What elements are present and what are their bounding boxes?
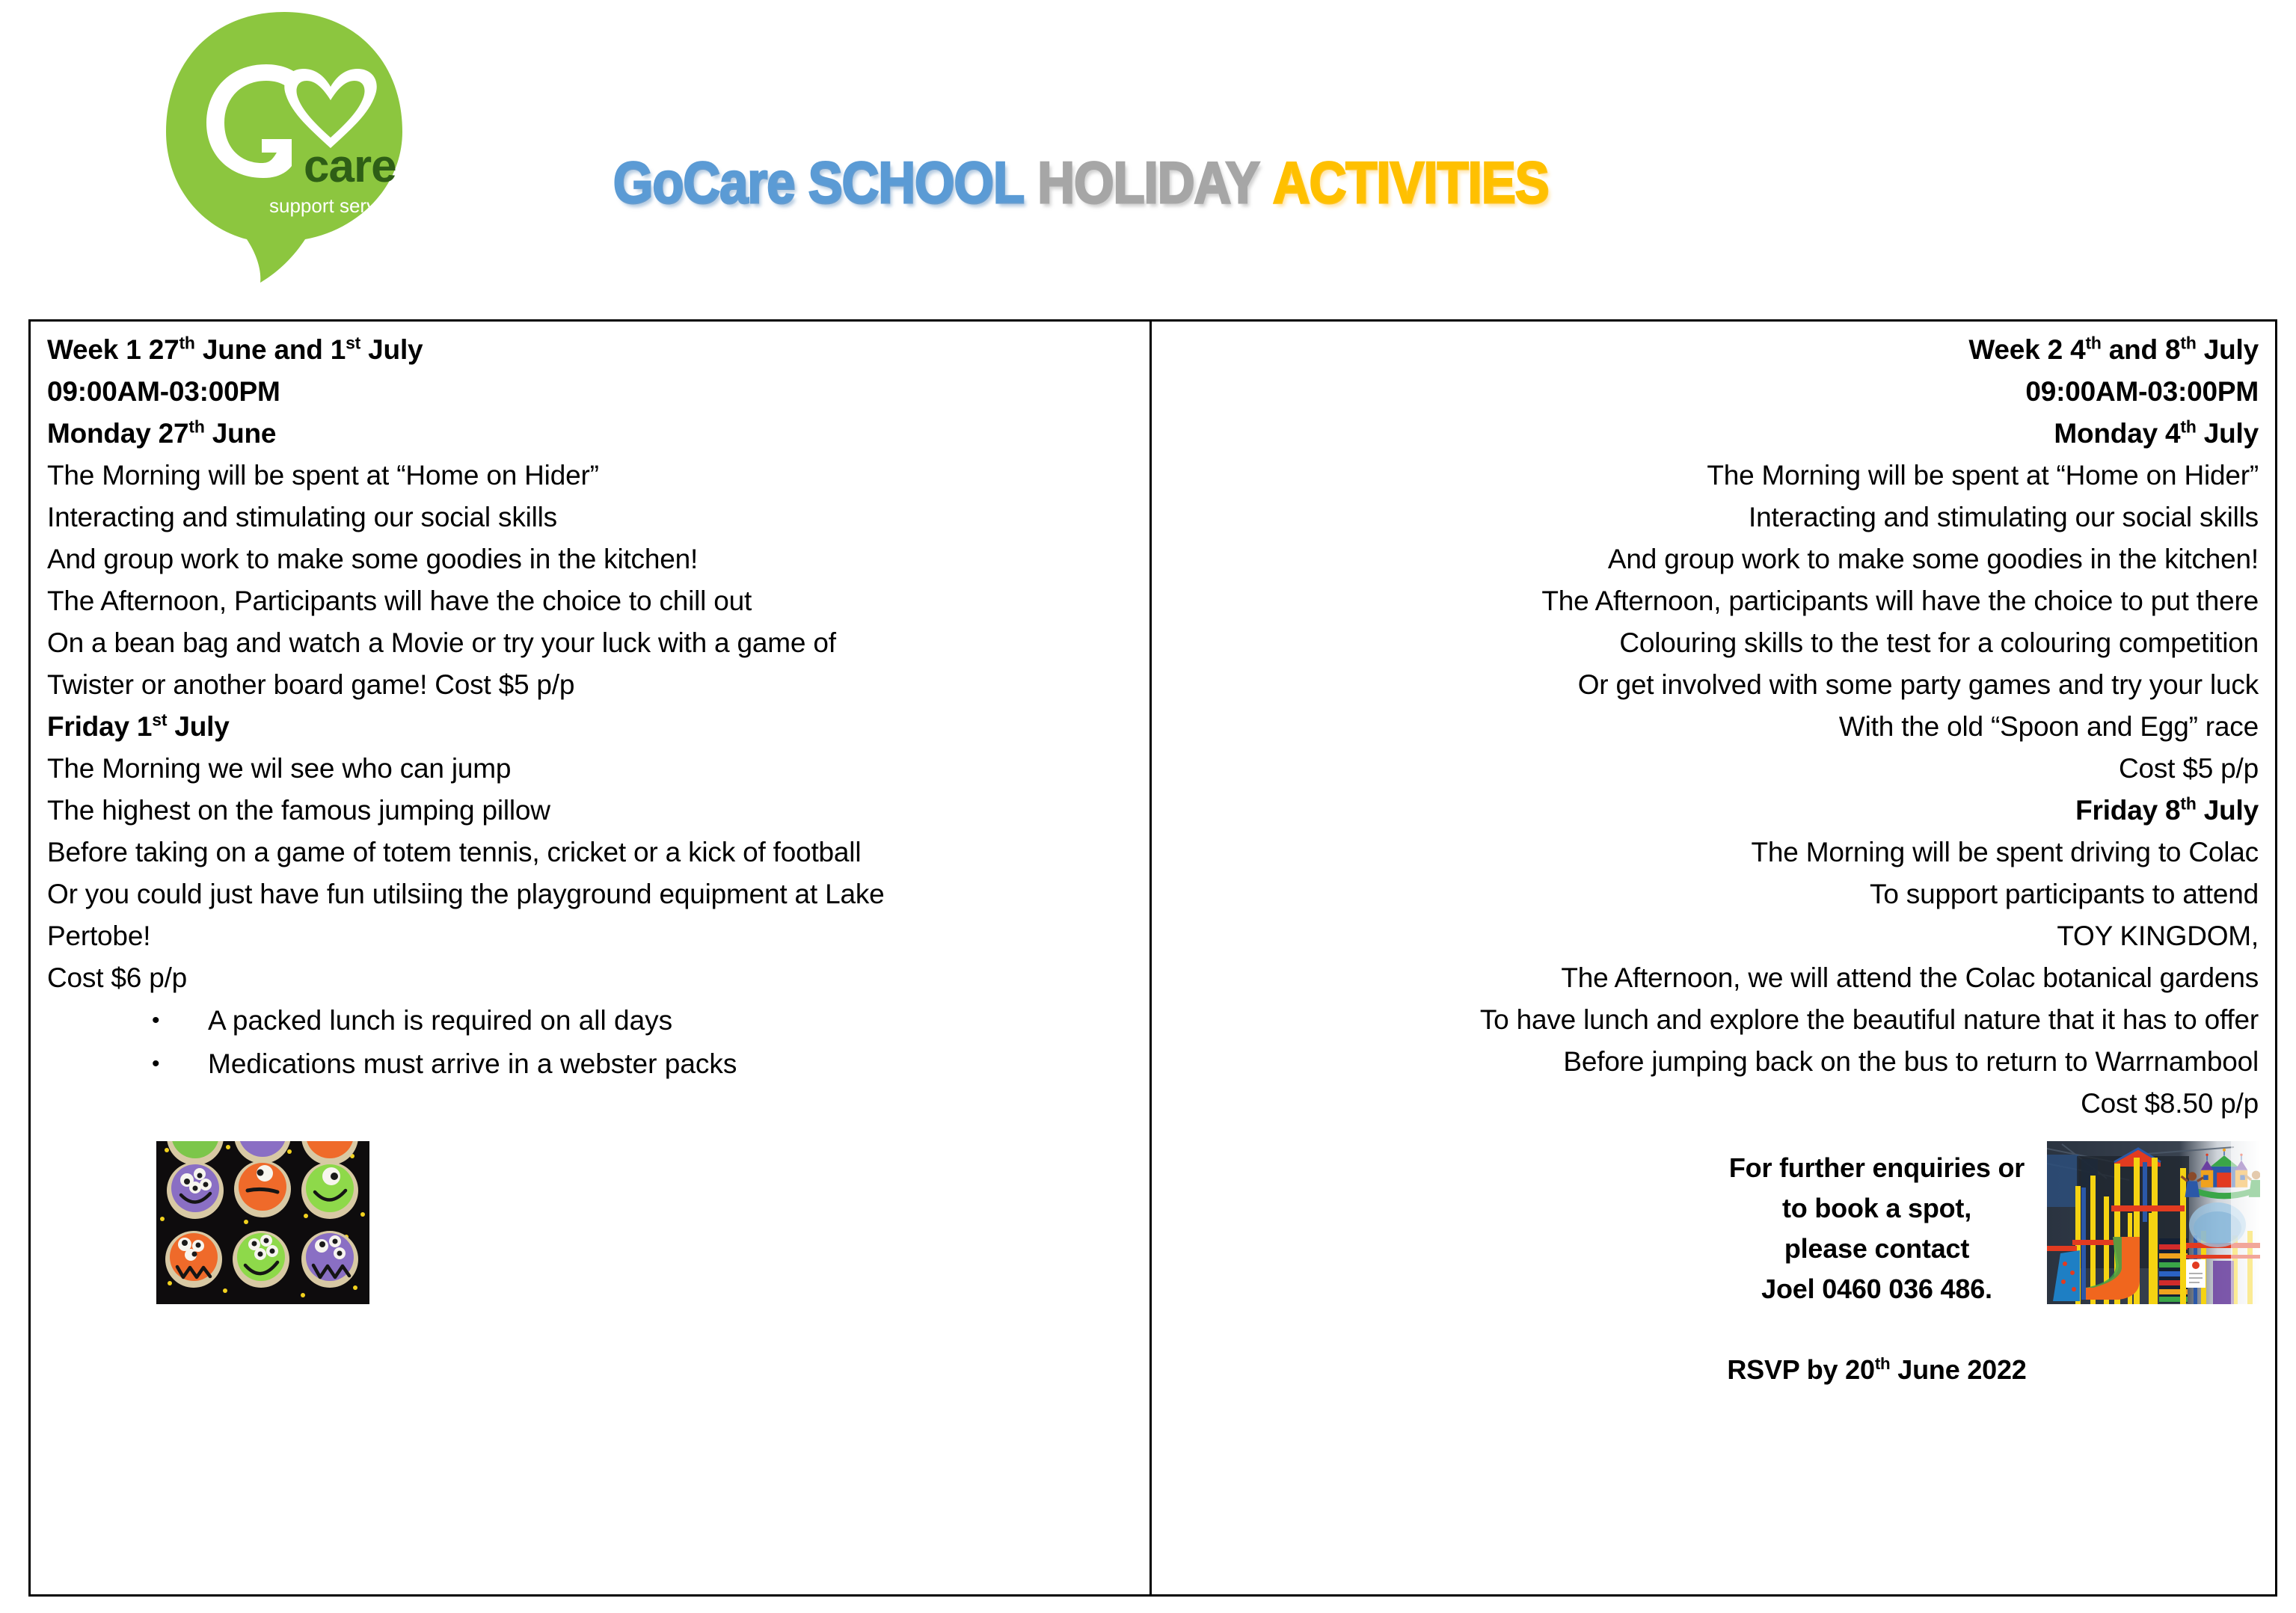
week2-hours: 09:00AM-03:00PM: [1165, 371, 2259, 413]
svg-text:care: care: [304, 141, 396, 192]
title-part-activities: ACTIVITIES: [1273, 153, 1549, 212]
contact-spacer: [1720, 1309, 2034, 1350]
week1-day2-line: Cost $6 p/p: [47, 957, 1136, 999]
week2-heading: Week 2 4th and 8th July: [1165, 329, 2259, 371]
week1-day2-line: The Morning we wil see who can jump: [47, 748, 1136, 790]
svg-text:support services: support services: [269, 194, 411, 217]
week2-day2-line: To support participants to attend: [1165, 873, 2259, 915]
week2-day2-line: TOY KINGDOM,: [1165, 915, 2259, 957]
week2-day2-line: Cost $8.50 p/p: [1165, 1083, 2259, 1125]
week2-day1-line: Or get involved with some party games an…: [1165, 664, 2259, 706]
gocare-logo: care support services: [157, 6, 411, 286]
week1-day2-heading: Friday 1st July: [47, 706, 1136, 748]
contact-line-1: For further enquiries or to book a spot,: [1720, 1148, 2034, 1229]
contact-phone: Joel 0460 036 486.: [1720, 1269, 2034, 1309]
list-item: A packed lunch is required on all days: [47, 999, 1136, 1042]
week2-day1-line: Colouring skills to the test for a colou…: [1165, 622, 2259, 664]
week2-day2-line: The Afternoon, we will attend the Colac …: [1165, 957, 2259, 999]
contact-line-2: please contact: [1720, 1229, 2034, 1269]
week1-day1-line: On a bean bag and watch a Movie or try y…: [47, 622, 1136, 664]
week2-day1-line: Cost $5 p/p: [1165, 748, 2259, 790]
week2-day2-line: The Morning will be spent driving to Col…: [1165, 832, 2259, 873]
page-header: care support services GoCare SCHOOL HOLI…: [0, 0, 2296, 314]
week1-day2-line: The highest on the famous jumping pillow: [47, 790, 1136, 832]
week2-column: Week 2 4th and 8th July 09:00AM-03:00PM …: [1152, 322, 2276, 1594]
week1-heading: Week 1 27th June and 1st July: [47, 329, 1136, 371]
week1-day1-line: And group work to make some goodies in t…: [47, 538, 1136, 580]
contact-block: For further enquiries or to book a spot,…: [1720, 1148, 2034, 1390]
week1-hours: 09:00AM-03:00PM: [47, 371, 1136, 413]
week1-column: Week 1 27th June and 1st July 09:00AM-03…: [31, 322, 1152, 1594]
week1-day1-line: Twister or another board game! Cost $5 p…: [47, 664, 1136, 706]
week2-day2-line: Before jumping back on the bus to return…: [1165, 1041, 2259, 1083]
title-part-holiday: HOLIDAY: [1037, 153, 1259, 212]
page-title: GoCare SCHOOL HOLIDAY ACTIVITIES: [613, 153, 1549, 212]
list-item: Medications must arrive in a webster pac…: [47, 1042, 1136, 1086]
week1-day1-line: The Morning will be spent at “Home on Hi…: [47, 455, 1136, 497]
week2-day1-line: The Afternoon, participants will have th…: [1165, 580, 2259, 622]
week1-day1-line: Interacting and stimulating our social s…: [47, 497, 1136, 538]
week1-day1-heading: Monday 27th June: [47, 413, 1136, 455]
week2-day1-line: The Morning will be spent at “Home on Hi…: [1165, 455, 2259, 497]
week2-day2-heading: Friday 8th July: [1165, 790, 2259, 832]
week2-day1-line: Interacting and stimulating our social s…: [1165, 497, 2259, 538]
week2-day2-line: To have lunch and explore the beautiful …: [1165, 999, 2259, 1041]
activities-table: Week 1 27th June and 1st July 09:00AM-03…: [28, 319, 2277, 1597]
monster-cookies-photo: [156, 1141, 369, 1304]
week1-day2-line: Before taking on a game of totem tennis,…: [47, 832, 1136, 873]
week2-day1-heading: Monday 4th July: [1165, 413, 2259, 455]
rsvp-line: RSVP by 20th June 2022: [1720, 1350, 2034, 1390]
week1-day1-line: The Afternoon, Participants will have th…: [47, 580, 1136, 622]
week2-day1-line: With the old “Spoon and Egg” race: [1165, 706, 2259, 748]
week2-day1-line: And group work to make some goodies in t…: [1165, 538, 2259, 580]
indoor-playground-photo: [2047, 1141, 2260, 1304]
week1-day2-line: Or you could just have fun utilsiing the…: [47, 873, 1136, 915]
week1-day2-line: Pertobe!: [47, 915, 1136, 957]
week1-notes-list: A packed lunch is required on all days M…: [47, 999, 1136, 1086]
title-part-school: GoCare SCHOOL: [613, 153, 1024, 212]
